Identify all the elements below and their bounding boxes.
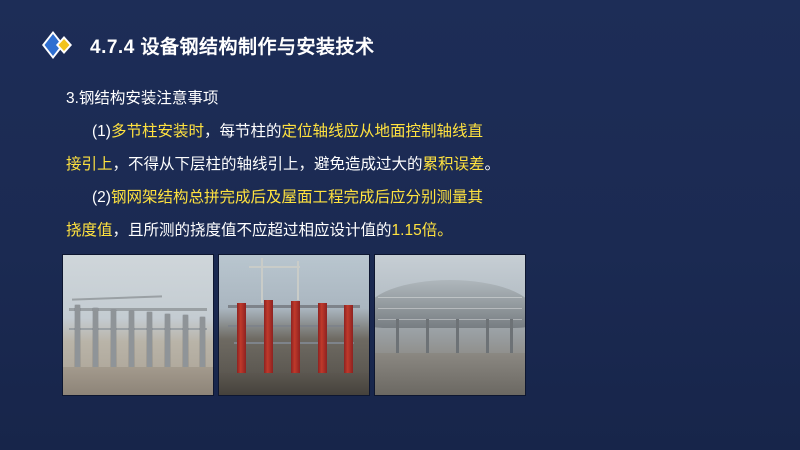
text-segment-highlight: 累积误差 [423,156,485,173]
text-segment: 3.钢结构安装注意事项 [66,90,218,107]
body-line-item2-a: (2)钢网架结构总拼完成后及屋面工程完成后应分别测量其 [66,181,746,214]
text-segment-highlight: 1.15倍。 [392,222,453,239]
slide-root: 4.7.4 设备钢结构制作与安装技术 3.钢结构安装注意事项 (1)多节柱安装时… [0,0,800,450]
text-segment-highlight: 钢网架结构 [111,189,189,206]
body-line-item2-b: 挠度值，且所测的挠度值不应超过相应设计值的1.15倍。 [66,214,746,247]
page-title: 4.7.4 设备钢结构制作与安装技术 [90,32,375,59]
text-segment-highlight: 挠度值 [66,222,113,239]
text-segment: ，且所测的挠度值不应超过相应设计值的 [113,222,392,239]
slide-title-row: 4.7.4 设备钢结构制作与安装技术 [42,28,375,62]
text-segment: (2) [92,189,111,206]
photo-strip [62,254,526,396]
text-segment: (1) [92,123,111,140]
text-segment-highlight: 定位轴线应从地面控制轴线直 [281,123,483,140]
text-segment-highlight: 总拼完成后及屋面工程完成后应分别测量其 [188,189,483,206]
text-segment: ，每节柱的 [204,123,282,140]
photo-steel-frame-columns [62,254,214,396]
photo-space-frame-roof [374,254,526,396]
diamond-bullet-icon [42,28,76,62]
body-line-heading: 3.钢结构安装注意事项 [66,82,746,115]
text-segment-highlight: 多节柱安装时 [111,123,204,140]
slide-body: 3.钢结构安装注意事项 (1)多节柱安装时，每节柱的定位轴线应从地面控制轴线直 … [66,82,746,247]
body-line-item1-a: (1)多节柱安装时，每节柱的定位轴线应从地面控制轴线直 [66,115,746,148]
text-segment-highlight: 接引上 [66,156,113,173]
text-segment: ，不得从下层柱的轴线引上，避免造成过大的 [113,156,423,173]
photo-red-steel-columns-site [218,254,370,396]
text-segment: 。 [485,156,501,173]
body-line-item1-b: 接引上，不得从下层柱的轴线引上，避免造成过大的累积误差。 [66,148,746,181]
